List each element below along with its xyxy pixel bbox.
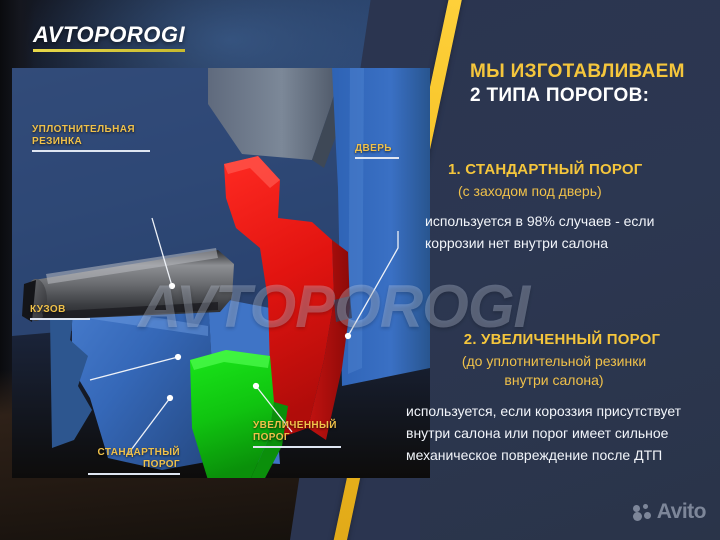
- section-1-body: используется в 98% случаев - если корроз…: [425, 210, 695, 254]
- label-car-body-line1: КУЗОВ: [30, 304, 90, 316]
- label-door-underline: [355, 157, 399, 159]
- label-door-line1: ДВЕРЬ: [355, 143, 399, 155]
- label-extended-sill-line1: УВЕЛИЧЕННЫЙ: [253, 420, 341, 432]
- section-2-subtitle-line2: внутри салона): [404, 371, 704, 390]
- label-standard-sill-line1: СТАНДАРТНЫЙ: [88, 447, 180, 459]
- avito-dots-icon: [633, 504, 652, 521]
- section-1-title: 1. СТАНДАРТНЫЙ ПОРОГ: [448, 160, 710, 179]
- section-1-subtitle: (с заходом под дверь): [458, 182, 720, 200]
- avito-watermark: Avito: [633, 500, 706, 524]
- brand-logo-text: AVTOPOROGI: [33, 22, 185, 48]
- label-standard-sill-line2: ПОРОГ: [88, 459, 180, 471]
- label-car-body-underline: [30, 318, 90, 320]
- label-standard-sill-underline: [88, 473, 180, 475]
- label-rubber-seal-line2: РЕЗИНКА: [32, 136, 150, 148]
- label-extended-sill-line2: ПОРОГ: [253, 432, 341, 444]
- label-extended-sill-underline: [253, 446, 341, 448]
- label-standard-sill: СТАНДАРТНЫЙ ПОРОГ: [88, 447, 180, 475]
- heading-line-1: МЫ ИЗГОТАВЛИВАЕМ: [470, 60, 710, 84]
- section-2-subtitle: (до уплотнительной резинки внутри салона…: [404, 352, 704, 390]
- door-bracket: [334, 296, 352, 322]
- label-rubber-seal-line1: УПЛОТНИТЕЛЬНАЯ: [32, 124, 150, 136]
- label-rubber-seal-underline: [32, 150, 150, 152]
- avito-wordmark: Avito: [657, 500, 706, 524]
- brand-logo-underline: [33, 49, 185, 52]
- heading-line-2: 2 ТИПА ПОРОГОВ:: [470, 84, 710, 108]
- section-2-subtitle-line1: (до уплотнительной резинки: [404, 352, 704, 371]
- brand-logo: AVTOPOROGI: [33, 22, 185, 52]
- label-extended-sill: УВЕЛИЧЕННЫЙ ПОРОГ: [253, 420, 341, 448]
- poster-canvas: AVTOPOROGI: [0, 0, 720, 540]
- label-door: ДВЕРЬ: [355, 143, 399, 159]
- door-panel-highlight: [348, 68, 364, 374]
- label-rubber-seal: УПЛОТНИТЕЛЬНАЯ РЕЗИНКА: [32, 124, 150, 152]
- section-2-body: используется, если короззия присутствует…: [406, 400, 696, 466]
- label-car-body: КУЗОВ: [30, 304, 90, 320]
- section-2-title: 2. УВЕЛИЧЕННЫЙ ПОРОГ: [412, 330, 712, 349]
